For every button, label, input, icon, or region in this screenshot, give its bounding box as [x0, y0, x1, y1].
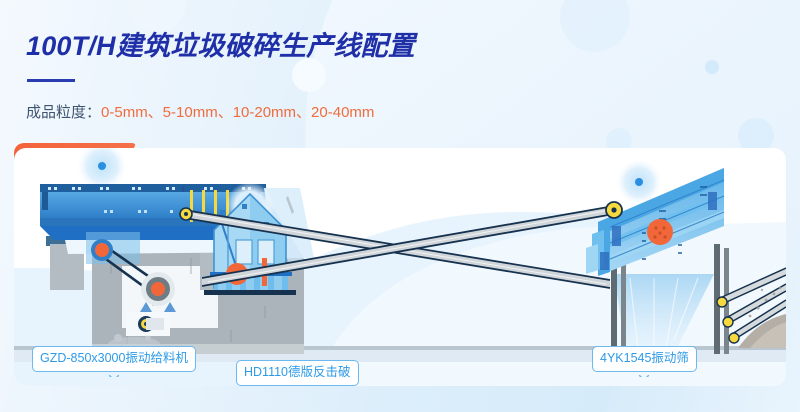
products-card: GZD-850x3000振动给料机 HD1110德版反击破 4YK1545振动筛 — [14, 148, 786, 386]
screen-frame-block — [600, 252, 609, 270]
page-title: 100T/H建筑垃圾破碎生产线配置 — [26, 24, 415, 63]
label-vibrating-screen-text: 4YK1545振动筛 — [600, 351, 689, 365]
crusher-bolt — [242, 204, 247, 209]
decorative-circle — [705, 60, 719, 74]
crusher-bolt — [220, 210, 225, 215]
chevron-down-icon — [109, 371, 119, 377]
decorative-circle — [292, 58, 326, 92]
screen-left-step-2 — [586, 244, 598, 274]
chevron-down-icon — [639, 371, 649, 377]
screen-frame-block — [708, 192, 717, 210]
motor-pulley-hub — [151, 282, 165, 296]
label-vibrating-feeder-text: GZD-850x3000振动给料机 — [40, 351, 188, 365]
spec-values: 0-5mm、5-10mm、10-20mm、20-40mm — [101, 104, 374, 121]
crusher-hatch-left — [236, 240, 252, 264]
label-vibrating-feeder[interactable]: GZD-850x3000振动给料机 — [32, 346, 196, 372]
screen-leg-left — [611, 256, 617, 354]
label-vibrating-screen[interactable]: 4YK1545振动筛 — [592, 346, 697, 372]
screenshot-root: 100T/H建筑垃圾破碎生产线配置 成品粒度：0-5mm、5-10mm、10-2… — [0, 0, 800, 412]
conveyor-belt-under-crusher — [126, 312, 170, 336]
chevron-down-icon — [292, 385, 302, 387]
spec-row: 成品粒度：0-5mm、5-10mm、10-20mm、20-40mm — [26, 101, 374, 122]
title-divider — [27, 79, 75, 82]
production-line-illustration: GZD-850x3000振动给料机 HD1110德版反击破 4YK1545振动筛 — [14, 148, 786, 386]
label-impact-crusher[interactable]: HD1110德版反击破 — [236, 360, 359, 386]
screen-leg-left-2 — [621, 260, 626, 354]
bar-bracket — [182, 186, 184, 192]
feeder-end-plate-left — [42, 192, 48, 210]
spec-label: 成品粒度： — [26, 104, 101, 121]
screen-indicator-dot — [635, 178, 643, 186]
feeder-indicator-dot — [98, 162, 106, 170]
screen-frame-block — [612, 226, 621, 246]
crusher-base-plate — [204, 290, 296, 295]
drive-pulley-upper-hub — [95, 243, 109, 257]
label-impact-crusher-text: HD1110德版反击破 — [244, 365, 351, 379]
